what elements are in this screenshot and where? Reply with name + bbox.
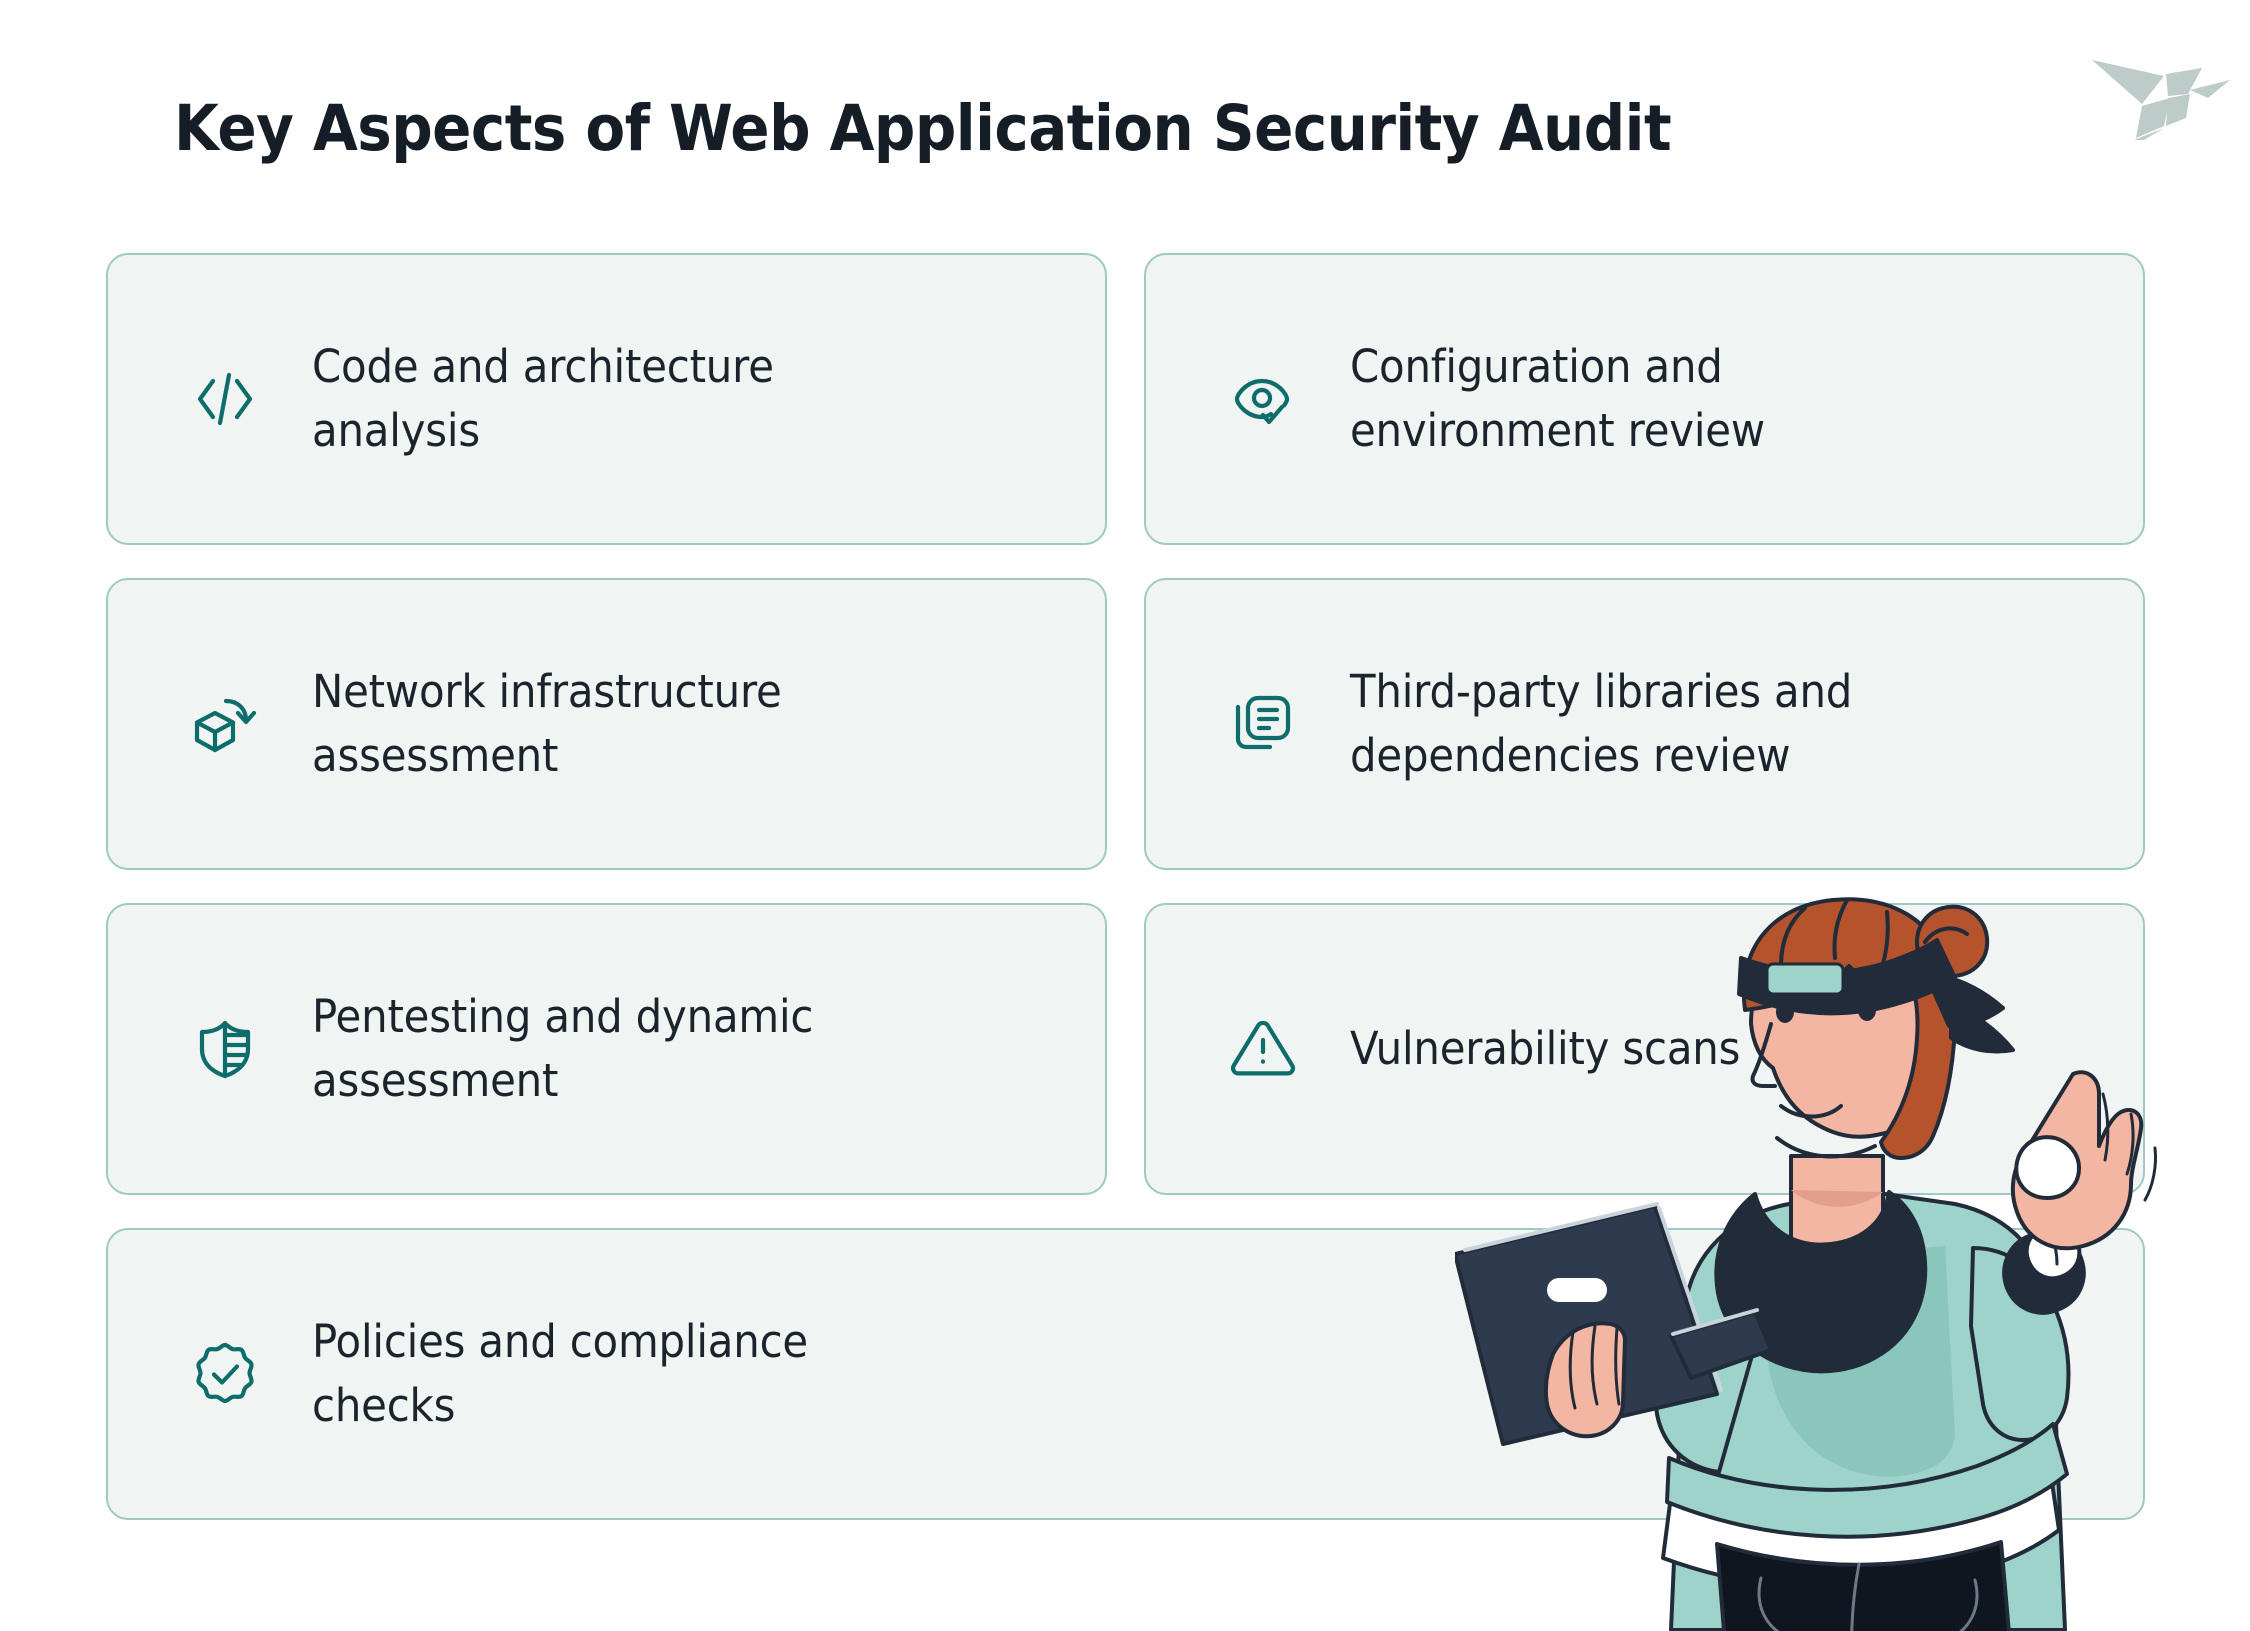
card-label: Network infrastructure assessment — [312, 660, 907, 788]
origami-bird-logo — [2090, 22, 2238, 140]
cube-arrow-icon — [182, 681, 268, 767]
card-label: Configuration and environment review — [1350, 335, 1945, 463]
card-code-architecture[interactable]: Code and architecture analysis — [106, 253, 1107, 545]
infographic-page: Key Aspects of Web Application Security … — [0, 0, 2250, 1631]
card-label: Policies and compliance checks — [312, 1310, 889, 1438]
card-vulnerability-scans[interactable]: Vulnerability scans — [1144, 903, 2145, 1195]
page-title: Key Aspects of Web Application Security … — [174, 92, 1671, 165]
card-network-infrastructure[interactable]: Network infrastructure assessment — [106, 578, 1107, 870]
card-third-party-libraries[interactable]: Third-party libraries and dependencies r… — [1144, 578, 2145, 870]
aspects-card-grid: Code and architecture analysis Configura… — [106, 253, 2145, 1520]
card-label: Pentesting and dynamic assessment — [312, 985, 907, 1113]
card-label: Code and architecture analysis — [312, 335, 907, 463]
stacked-documents-icon — [1220, 681, 1306, 767]
code-brackets-icon — [182, 356, 268, 442]
card-policies-compliance[interactable]: Policies and compliance checks — [106, 1228, 2145, 1520]
card-label: Third-party libraries and dependencies r… — [1350, 660, 1945, 788]
card-configuration-environment[interactable]: Configuration and environment review — [1144, 253, 2145, 545]
card-pentesting-dynamic[interactable]: Pentesting and dynamic assessment — [106, 903, 1107, 1195]
verified-badge-icon — [182, 1331, 268, 1417]
eye-check-icon — [1220, 356, 1306, 442]
striped-shield-icon — [182, 1006, 268, 1092]
warning-triangle-icon — [1220, 1006, 1306, 1092]
card-label: Vulnerability scans — [1350, 1017, 1740, 1081]
